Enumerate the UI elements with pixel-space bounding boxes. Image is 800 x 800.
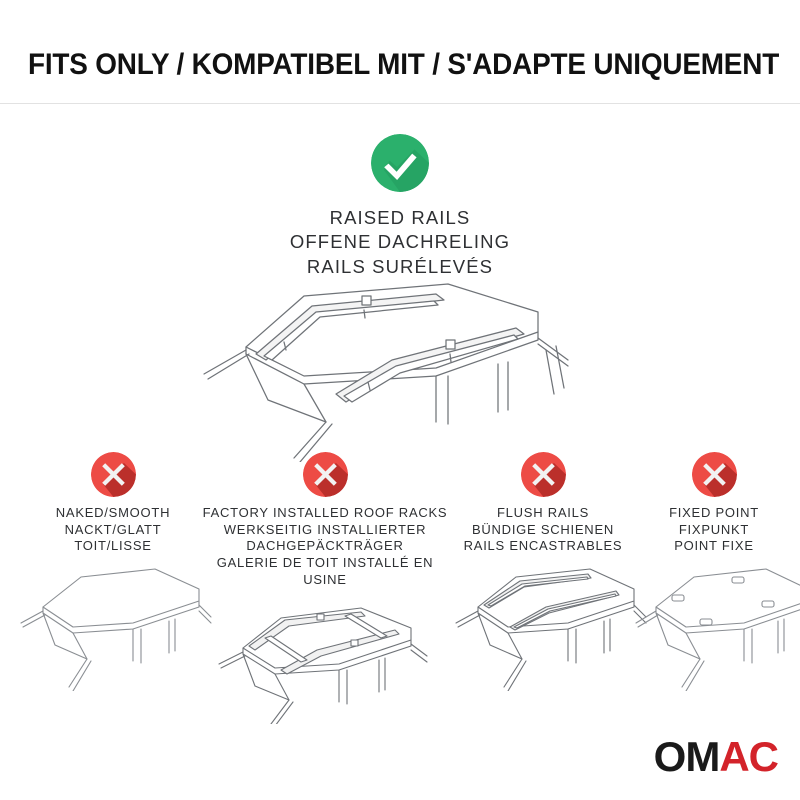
incompatible-label-en: FIXED POINT — [628, 505, 800, 522]
incompatible-badge-wrap-flush-rails — [448, 452, 638, 497]
incompatible-label-de: BÜNDIGE SCHIENEN — [448, 522, 638, 539]
page-title: FITS ONLY / KOMPATIBEL MIT / S'ADAPTE UN… — [28, 48, 772, 82]
incompatible-label-en: FLUSH RAILS — [448, 505, 638, 522]
incompatible-label-fr: POINT FIXE — [628, 538, 800, 555]
check-circle-icon — [371, 134, 429, 192]
incompatible-badge-wrap-naked-smooth — [8, 452, 218, 497]
x-circle-icon — [692, 452, 737, 497]
car-roof-factory-racks-illustration — [200, 594, 450, 729]
logo-text-ac: AC — [719, 733, 778, 780]
car-roof-naked-illustration — [8, 561, 218, 696]
incompatible-labels-fixed-point: FIXED POINT FIXPUNKT POINT FIXE — [628, 505, 800, 555]
incompatible-item-flush-rails: FLUSH RAILS BÜNDIGE SCHIENEN RAILS ENCAS… — [448, 452, 638, 696]
incompatible-label-de: WERKSEITIG INSTALLIERTER DACHGEPÄCKTRÄGE… — [200, 522, 450, 555]
incompatible-item-fixed-point: FIXED POINT FIXPUNKT POINT FIXE — [628, 452, 800, 696]
omac-logo: OMAC — [654, 736, 778, 778]
incompatible-label-de: NACKT/GLATT — [8, 522, 218, 539]
x-circle-icon — [303, 452, 348, 497]
incompatible-label-en: FACTORY INSTALLED ROOF RACKS — [200, 505, 450, 522]
logo-text-om: OM — [654, 733, 720, 780]
compatible-label-en: RAISED RAILS — [0, 206, 800, 230]
incompatible-labels-factory-roof-racks: FACTORY INSTALLED ROOF RACKS WERKSEITIG … — [200, 505, 450, 588]
compatible-label-de: OFFENE DACHRELING — [0, 230, 800, 254]
incompatible-label-fr: RAILS ENCASTRABLES — [448, 538, 638, 555]
x-circle-icon — [91, 452, 136, 497]
incompatible-labels-naked-smooth: NAKED/SMOOTH NACKT/GLATT TOIT/LISSE — [8, 505, 218, 555]
header: FITS ONLY / KOMPATIBEL MIT / S'ADAPTE UN… — [0, 0, 800, 104]
car-roof-fixed-point-illustration — [628, 561, 800, 696]
incompatible-item-factory-roof-racks: FACTORY INSTALLED ROOF RACKS WERKSEITIG … — [200, 452, 450, 729]
incompatible-label-fr: TOIT/LISSE — [8, 538, 218, 555]
incompatible-label-de: FIXPUNKT — [628, 522, 800, 539]
incompatible-label-en: NAKED/SMOOTH — [8, 505, 218, 522]
incompatible-badge-wrap-fixed-point — [628, 452, 800, 497]
incompatible-badge-wrap-factory-roof-racks — [200, 452, 450, 497]
incompatible-labels-flush-rails: FLUSH RAILS BÜNDIGE SCHIENEN RAILS ENCAS… — [448, 505, 638, 555]
incompatible-label-fr: GALERIE DE TOIT INSTALLÉ EN USINE — [200, 555, 450, 588]
compatible-section: RAISED RAILS OFFENE DACHRELING RAILS SUR… — [0, 104, 800, 279]
x-circle-icon — [521, 452, 566, 497]
compatible-badge-wrap — [0, 134, 800, 192]
car-roof-flush-rails-illustration — [448, 561, 638, 696]
compatible-labels: RAISED RAILS OFFENE DACHRELING RAILS SUR… — [0, 206, 800, 279]
incompatible-item-naked-smooth: NAKED/SMOOTH NACKT/GLATT TOIT/LISSE — [8, 452, 218, 696]
car-roof-raised-rails-illustration — [186, 272, 626, 462]
